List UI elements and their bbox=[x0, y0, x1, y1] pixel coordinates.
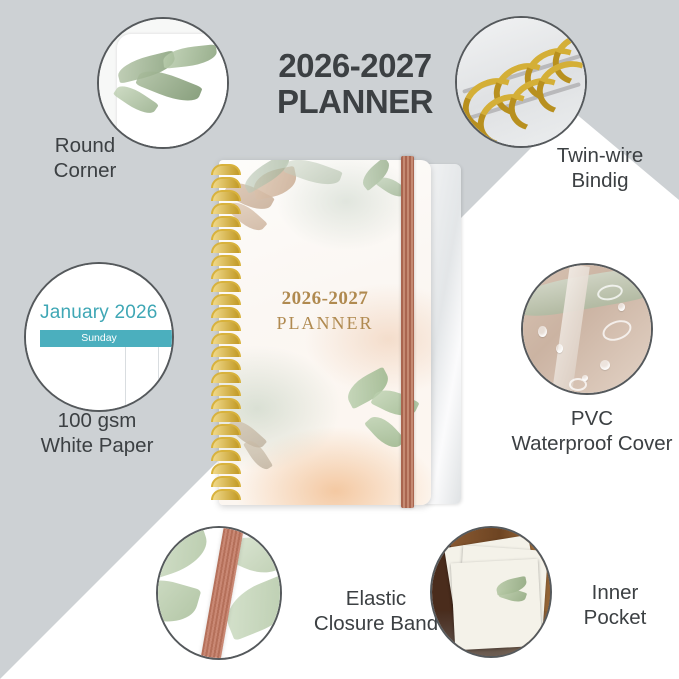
title-line-planner: PLANNER bbox=[277, 83, 433, 120]
label-inner-pocket: Inner Pocket bbox=[556, 580, 674, 630]
label-round-corner-line1: Round bbox=[55, 134, 115, 157]
calendar-day-header-text: Sunday bbox=[40, 330, 158, 347]
twin-wire-coil-icon bbox=[457, 18, 585, 146]
paper-cards-pocket-icon bbox=[432, 528, 550, 656]
calendar-page-icon: January 2026 Sunday bbox=[26, 264, 172, 410]
calendar-grid-line-1 bbox=[125, 347, 126, 407]
rounded-page-corner-icon bbox=[99, 19, 227, 147]
cover-title-word: PLANNER bbox=[219, 313, 431, 334]
feature-circle-round-corner bbox=[97, 17, 229, 149]
label-twin-wire-line2: Bindig bbox=[572, 169, 629, 192]
label-inner-pocket-line1: Inner bbox=[592, 581, 639, 604]
title-line-year: 2026-2027 bbox=[278, 47, 431, 84]
feature-circle-elastic-band bbox=[156, 526, 282, 660]
feature-circle-twin-wire bbox=[455, 16, 587, 148]
label-round-corner: Round Corner bbox=[10, 133, 160, 183]
feature-circle-pvc-waterproof bbox=[521, 263, 653, 395]
product-infographic: 2026-2027 PLANNER 2026-2027 PLANNER bbox=[0, 0, 679, 679]
label-pvc-line2: Waterproof Cover bbox=[511, 432, 672, 455]
planner-book-image: 2026-2027 PLANNER bbox=[205, 152, 455, 507]
elastic-band-icon bbox=[158, 528, 280, 658]
label-white-paper-line2: White Paper bbox=[41, 434, 154, 457]
feature-circle-white-paper: January 2026 Sunday bbox=[24, 262, 174, 412]
cover-leaf-10 bbox=[364, 410, 406, 453]
label-round-corner-line2: Corner bbox=[54, 159, 117, 182]
label-pvc-waterproof: PVC Waterproof Cover bbox=[505, 406, 679, 456]
planner-front-cover: 2026-2027 PLANNER bbox=[219, 160, 431, 505]
page-title: 2026-2027 PLANNER bbox=[255, 48, 455, 119]
calendar-month-title: January 2026 bbox=[40, 302, 158, 324]
label-elastic-line1: Elastic bbox=[346, 587, 406, 610]
feature-circle-inner-pocket bbox=[430, 526, 552, 658]
cover-title-year: 2026-2027 bbox=[219, 288, 431, 310]
label-twin-wire-line1: Twin-wire bbox=[557, 144, 644, 167]
label-pvc-line1: PVC bbox=[571, 407, 613, 430]
label-elastic-line2: Closure Band bbox=[314, 612, 438, 635]
cover-title: 2026-2027 PLANNER bbox=[219, 288, 431, 334]
label-white-paper-line1: 100 gsm bbox=[58, 409, 137, 432]
label-twin-wire: Twin-wire Bindig bbox=[520, 143, 679, 193]
calendar-grid-line-2 bbox=[158, 347, 159, 399]
calendar-day-header-cell: Sunday bbox=[40, 330, 158, 347]
elastic-closure-band-on-book bbox=[401, 156, 414, 508]
label-inner-pocket-line2: Pocket bbox=[584, 606, 647, 629]
water-droplets-icon bbox=[523, 265, 651, 393]
label-white-paper: 100 gsm White Paper bbox=[22, 408, 172, 458]
spiral-binding bbox=[211, 164, 237, 502]
calendar-day-header-cell-next bbox=[158, 330, 174, 347]
